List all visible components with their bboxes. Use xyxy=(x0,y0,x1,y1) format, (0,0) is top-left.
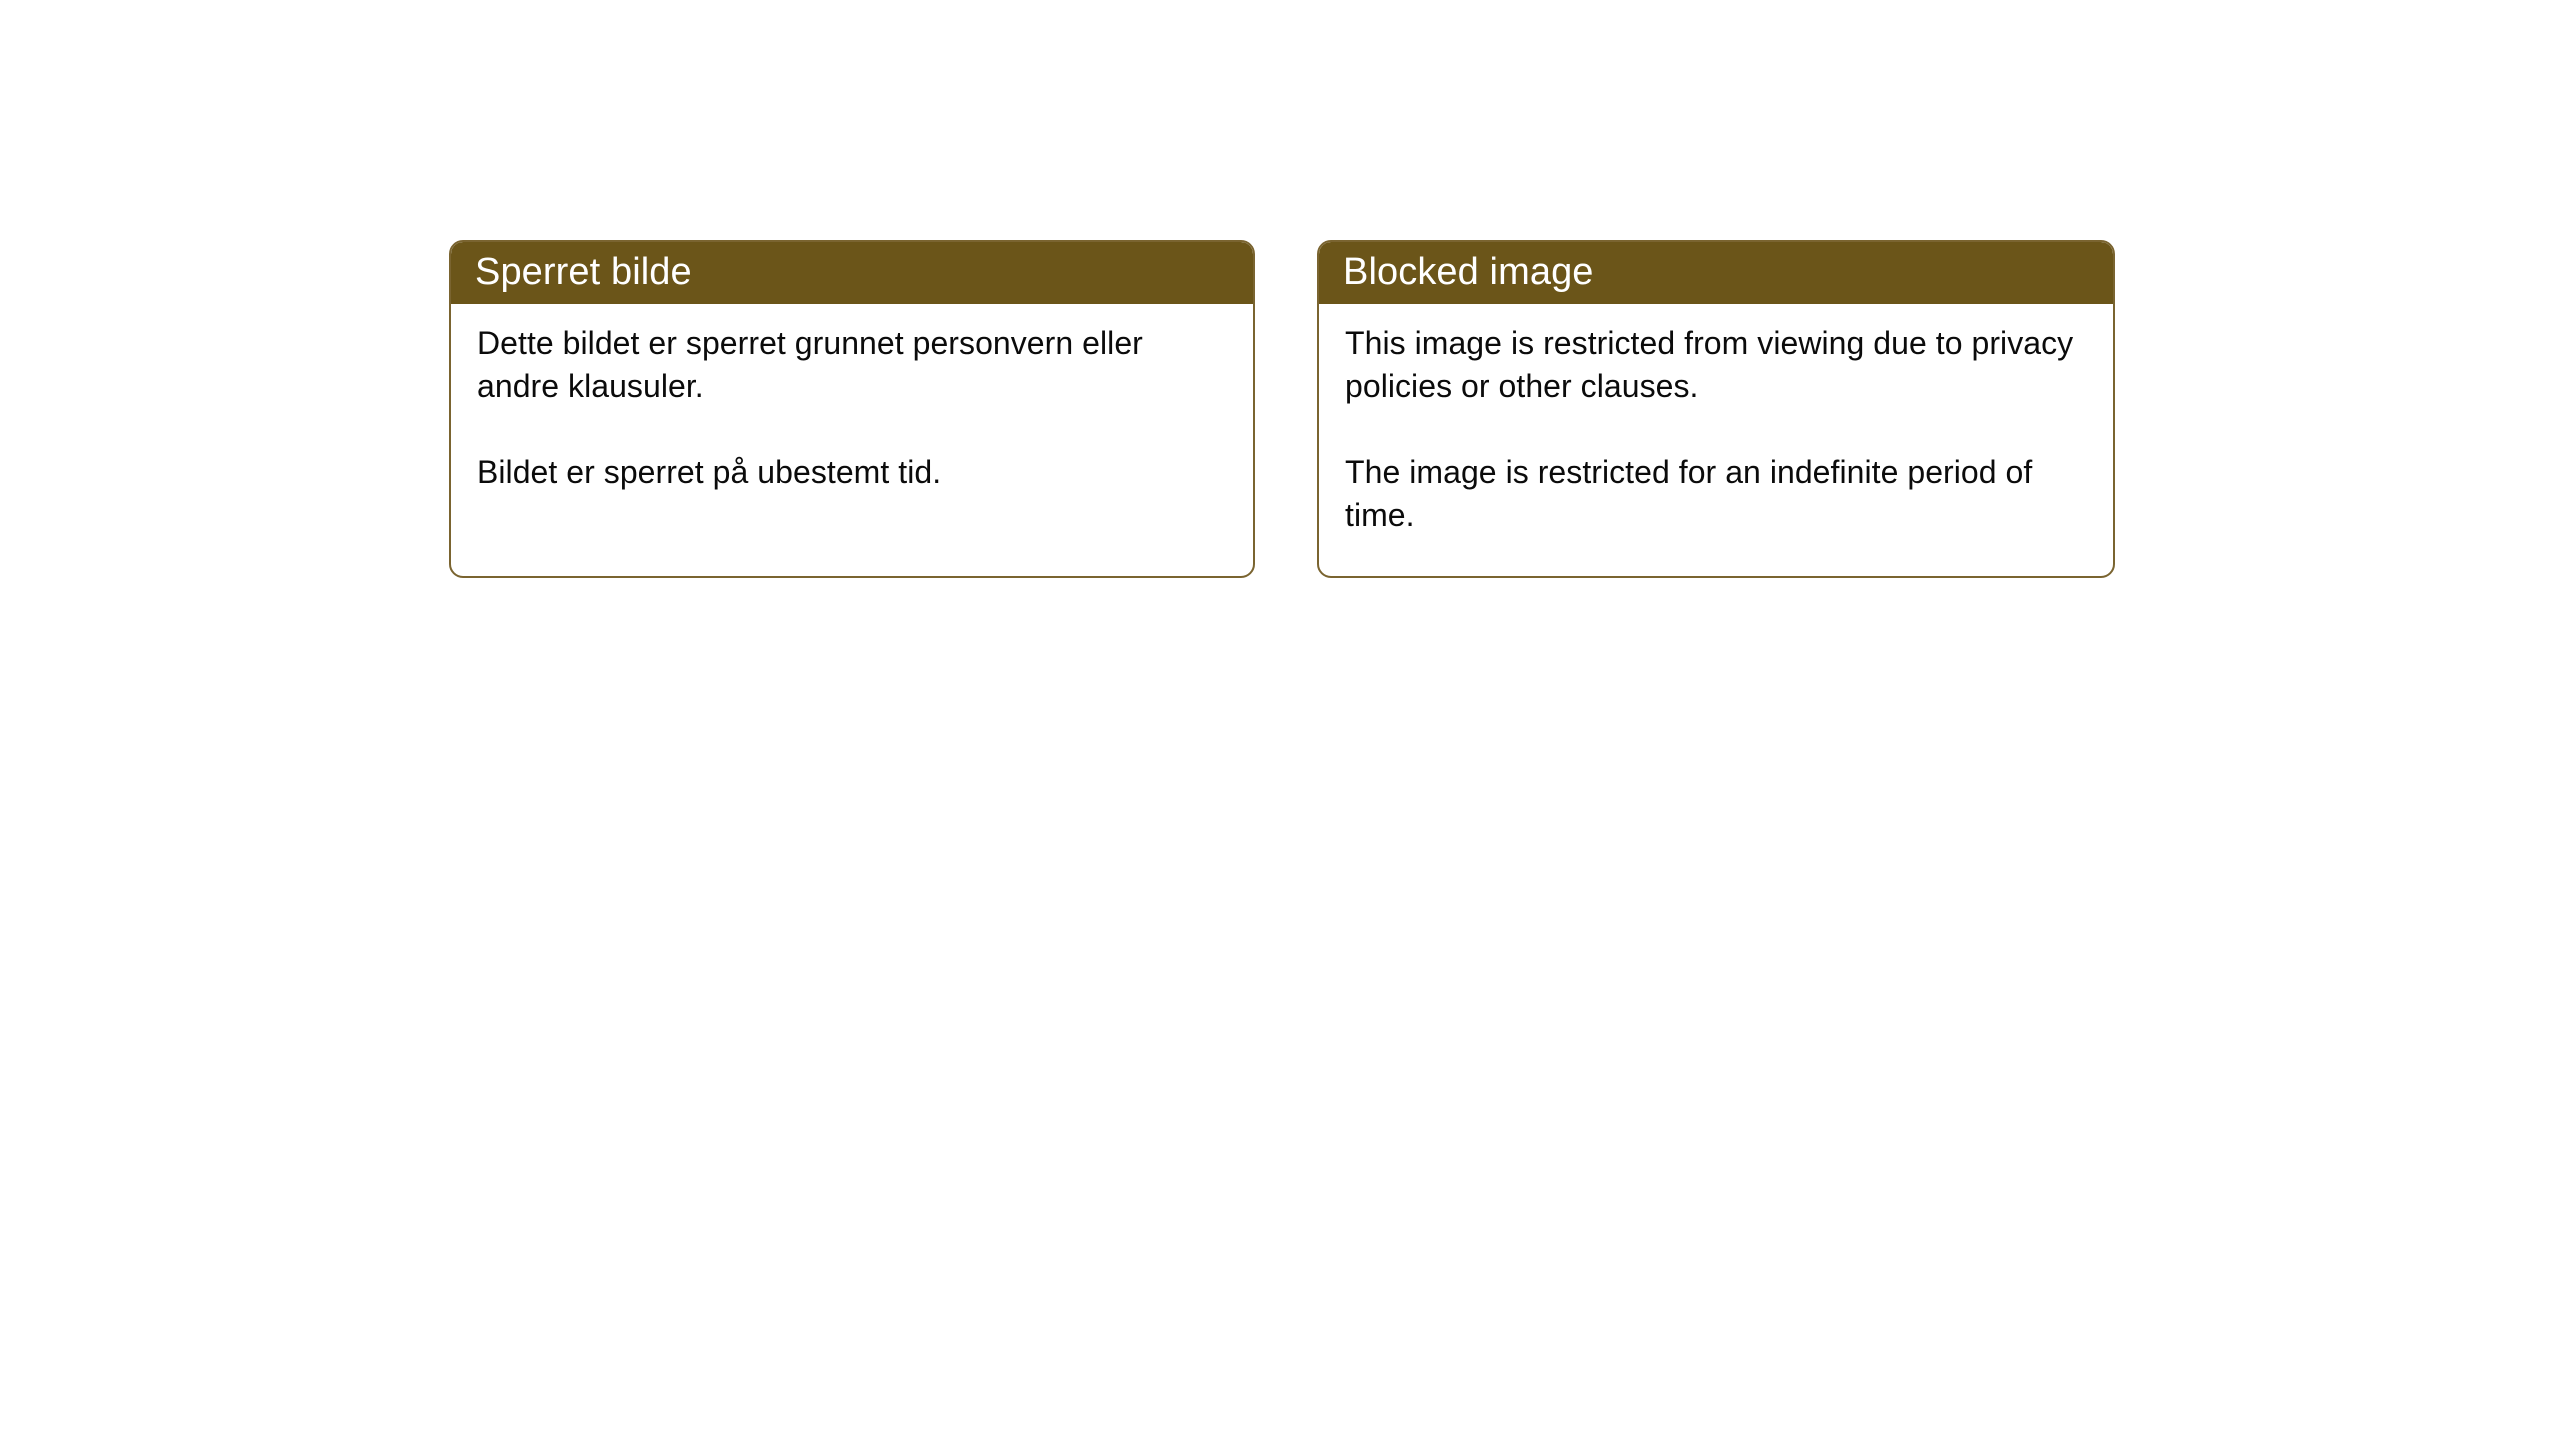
card-title-norwegian: Sperret bilde xyxy=(475,253,692,291)
card-header-norwegian: Sperret bilde xyxy=(451,242,1253,304)
page-root: Sperret bilde Dette bildet er sperret gr… xyxy=(0,0,2560,1440)
card-header-english: Blocked image xyxy=(1319,242,2113,304)
card-title-english: Blocked image xyxy=(1343,253,1594,291)
card-paragraph-primary-norwegian: Dette bildet er sperret grunnet personve… xyxy=(477,322,1227,408)
card-body-english: This image is restricted from viewing du… xyxy=(1319,304,2113,559)
blocked-image-notice-card-english: Blocked image This image is restricted f… xyxy=(1317,240,2115,578)
card-paragraph-secondary-norwegian: Bildet er sperret på ubestemt tid. xyxy=(477,451,1227,494)
card-paragraph-secondary-english: The image is restricted for an indefinit… xyxy=(1345,451,2087,537)
card-body-norwegian: Dette bildet er sperret grunnet personve… xyxy=(451,304,1253,516)
blocked-image-notice-card-norwegian: Sperret bilde Dette bildet er sperret gr… xyxy=(449,240,1255,578)
card-paragraph-primary-english: This image is restricted from viewing du… xyxy=(1345,322,2087,408)
